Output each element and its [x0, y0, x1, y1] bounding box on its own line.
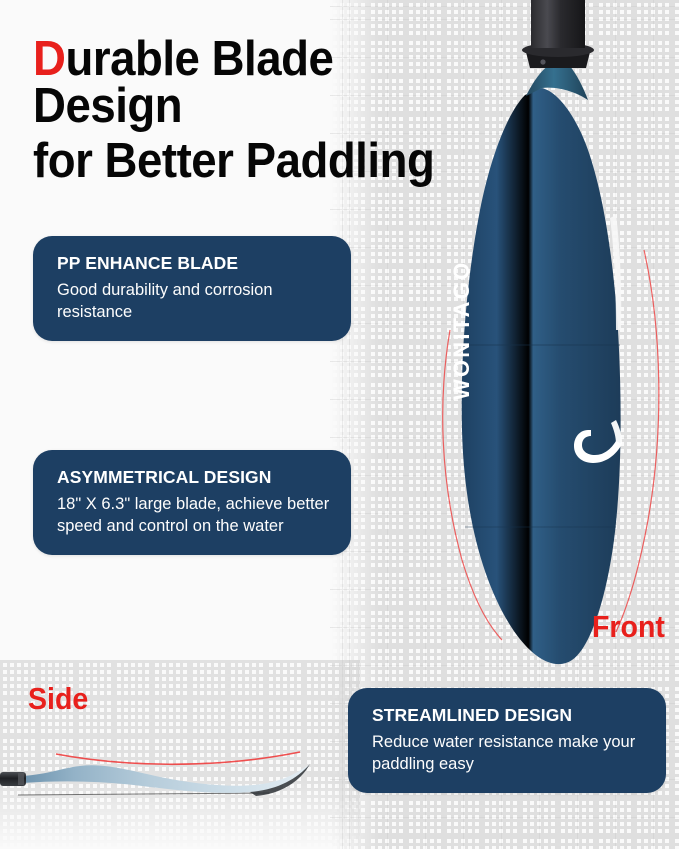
title-line-1: urable Blade Design [33, 32, 333, 133]
side-baseline [18, 793, 270, 795]
side-red-guide-curve [56, 752, 300, 764]
page-title: Durable Blade Design for Better Paddling [33, 36, 470, 185]
paddle-shaft [531, 0, 585, 48]
feature-card-asymmetrical-design[interactable]: ASYMMETRICAL DESIGN 18" X 6.3" large bla… [33, 450, 351, 555]
feature-card-title: ASYMMETRICAL DESIGN [57, 467, 331, 487]
shaft-button [540, 59, 545, 64]
title-line-2: for Better Paddling [33, 138, 470, 185]
side-shaft-collar [18, 773, 24, 785]
blade-front-shape [462, 88, 621, 664]
side-view-label: Side [28, 681, 88, 717]
front-view-label: Front [592, 609, 665, 645]
red-guide-curve-right [616, 250, 659, 632]
infographic-page: Durable Blade Design for Better Paddling [0, 0, 679, 849]
feature-card-body: Good durability and corrosion resistance [57, 280, 331, 324]
side-blade-shape [22, 764, 310, 793]
feature-card-pp-enhance-blade[interactable]: PP ENHANCE BLADE Good durability and cor… [33, 236, 351, 341]
feature-card-body: 18" X 6.3" large blade, achieve better s… [57, 494, 331, 538]
feature-card-streamlined-design[interactable]: STREAMLINED DESIGN Reduce water resistan… [348, 688, 666, 793]
brand-wordmark: WONITAGO [449, 261, 475, 400]
feature-card-title: PP ENHANCE BLADE [57, 253, 331, 273]
feature-card-title: STREAMLINED DESIGN [372, 705, 646, 725]
feature-card-body: Reduce water resistance make your paddli… [372, 732, 646, 776]
